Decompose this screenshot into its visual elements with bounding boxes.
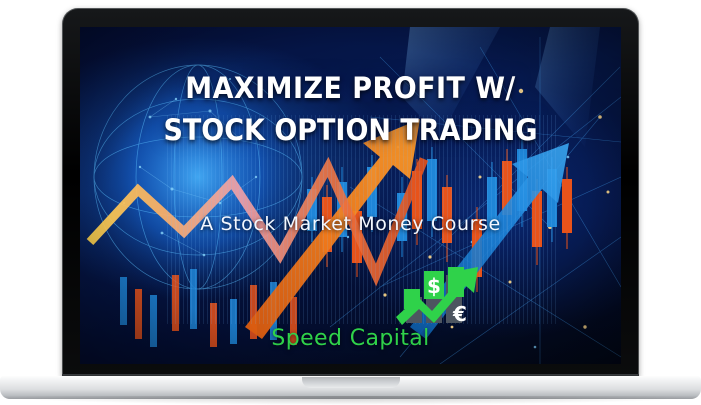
laptop-lid: MAXIMIZE PROFIT W/ STOCK OPTION TRADING … [62,8,639,378]
laptop-base-notch [302,377,400,388]
laptop-screen: MAXIMIZE PROFIT W/ STOCK OPTION TRADING … [80,27,621,364]
screenshot-stage: MAXIMIZE PROFIT W/ STOCK OPTION TRADING … [0,0,701,405]
screen-vignette [80,27,621,364]
laptop-drop-shadow [0,396,701,405]
